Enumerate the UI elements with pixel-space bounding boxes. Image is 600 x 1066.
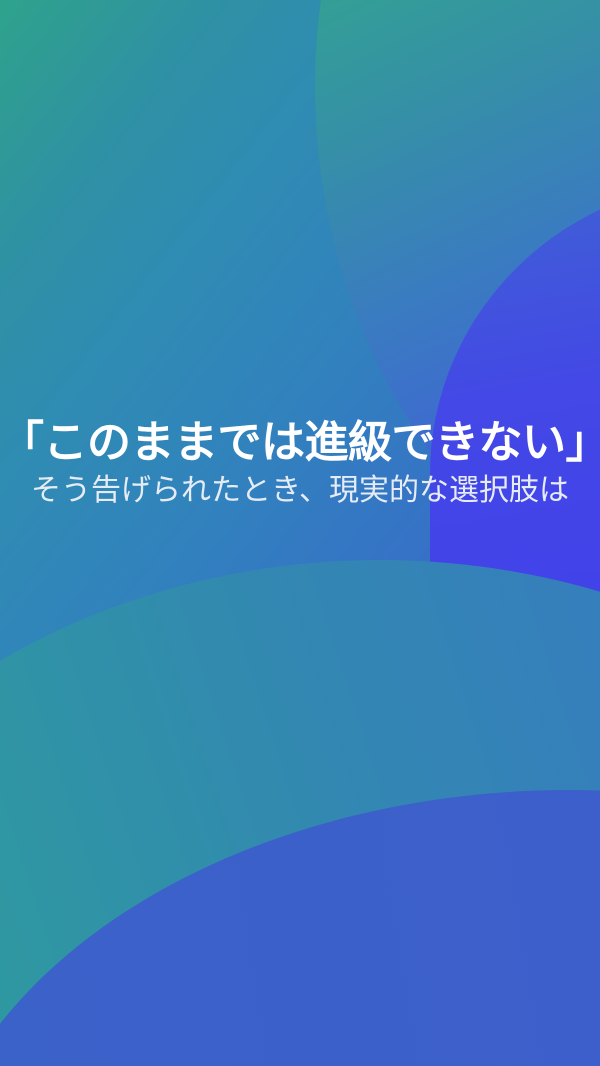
- subheadline: そう告げられたとき、現実的な選択肢は: [0, 473, 600, 509]
- title-card-canvas: 「このままでは進級できない」 そう告げられたとき、現実的な選択肢は: [0, 0, 600, 1066]
- headline: 「このままでは進級できない」: [0, 418, 600, 467]
- title-text-block: 「このままでは進級できない」 そう告げられたとき、現実的な選択肢は: [0, 418, 600, 509]
